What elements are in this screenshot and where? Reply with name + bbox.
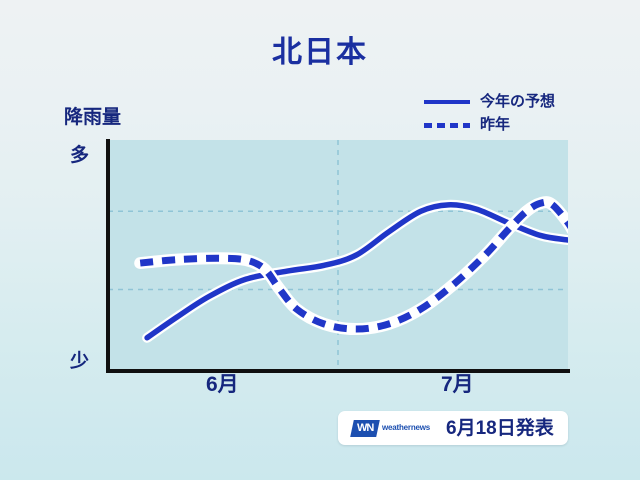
release-badge: WN weathernews 6月18日発表 xyxy=(338,411,568,445)
weather-chart-infographic: 北日本 今年の予想 昨年 降雨量 多 少 6月 7月 WN weathernew… xyxy=(0,0,640,480)
chart-plot-area xyxy=(0,0,640,480)
wn-mark-text: WN xyxy=(357,423,373,434)
wn-mark-icon: WN xyxy=(350,420,380,437)
release-date-text: 6月18日発表 xyxy=(446,419,554,438)
weathernews-logo: WN weathernews xyxy=(352,420,430,437)
brand-wordmark: weathernews xyxy=(382,424,430,432)
